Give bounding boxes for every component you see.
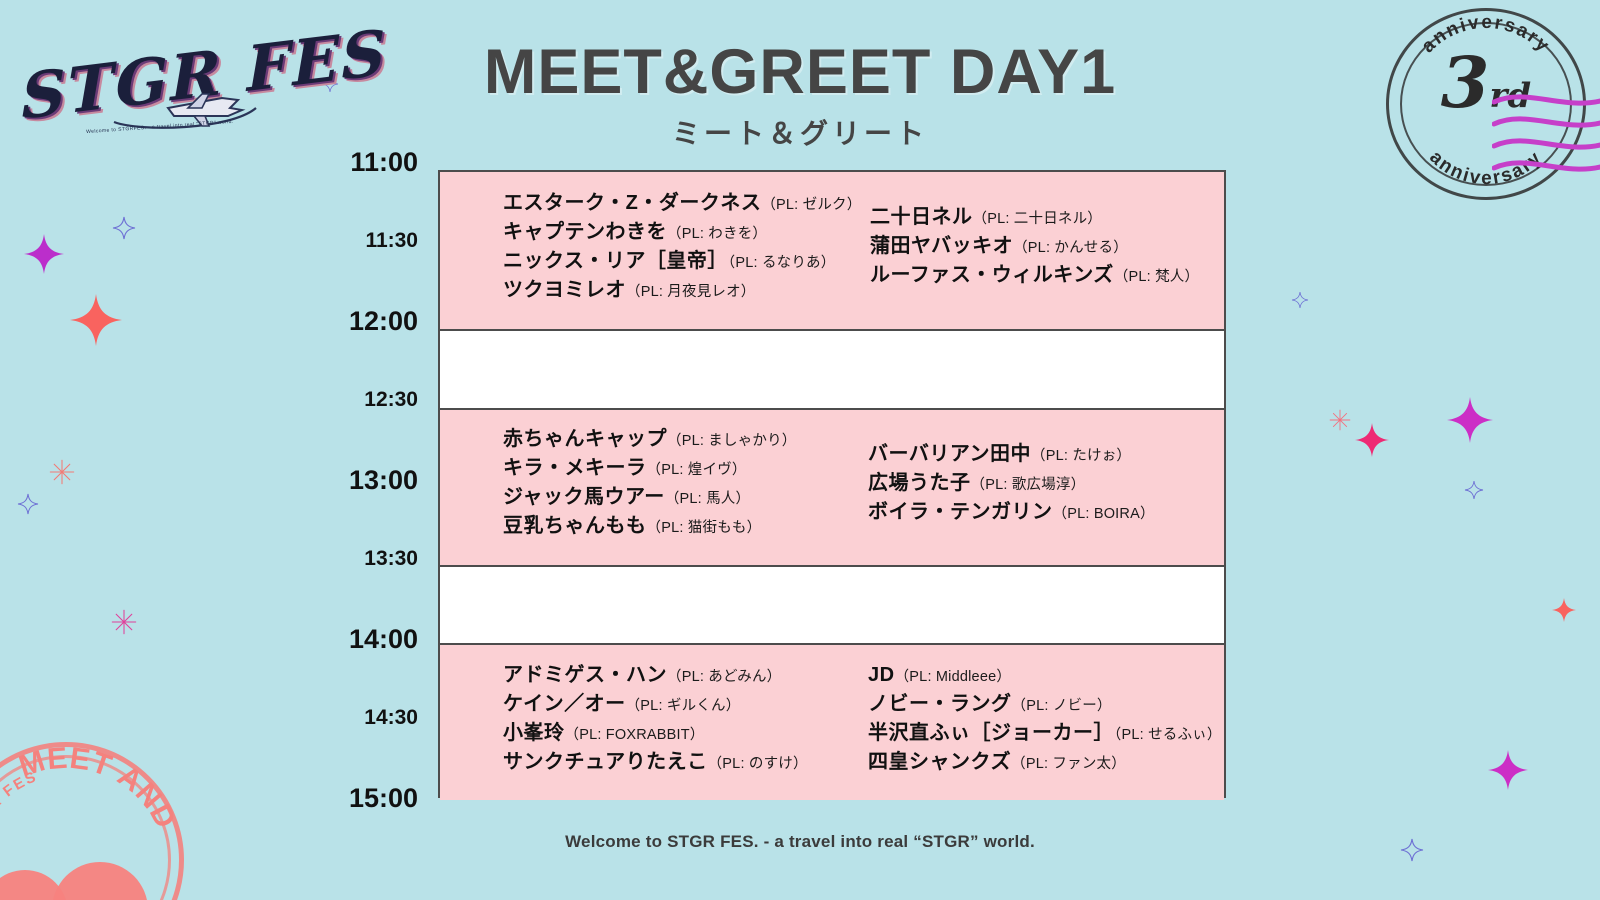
- entry-character-name: 広場うた子: [868, 472, 971, 494]
- schedule-block-session: エスターク・Z・ダークネス（PL: ゼルク）キャプテンわきを（PL: わきを）ニ…: [440, 172, 1224, 329]
- schedule-table: エスターク・Z・ダークネス（PL: ゼルク）キャプテンわきを（PL: わきを）ニ…: [438, 170, 1226, 798]
- entry-player-name: （PL: Middleee）: [895, 669, 1011, 685]
- schedule-column-left: 赤ちゃんキャップ（PL: ましゃかり）キラ・メキーラ（PL: 煌イヴ）ジャック馬…: [440, 429, 850, 545]
- entry-character-name: ケイン／オー: [503, 693, 626, 715]
- sparkle-icon: [113, 217, 135, 239]
- time-mark-1400: 14:00: [260, 624, 418, 655]
- time-mark-1100: 11:00: [260, 147, 418, 178]
- entry-player-name: （PL: 月夜見レオ）: [626, 284, 756, 300]
- schedule-entry: ニックス・リア［皇帝］（PL: るなりあ）: [503, 251, 852, 271]
- entry-character-name: ボイラ・テンガリン: [868, 501, 1053, 523]
- entry-character-name: JD: [868, 664, 895, 686]
- schedule-entry: ジャック馬ウアー（PL: 馬人）: [503, 487, 850, 507]
- schedule-entry: 豆乳ちゃんもも（PL: 猫街もも）: [503, 516, 850, 536]
- entry-player-name: （PL: たけぉ）: [1031, 448, 1131, 464]
- entry-player-name: （PL: 煌イヴ）: [647, 462, 747, 478]
- entry-player-name: （PL: BOIRA）: [1053, 506, 1155, 522]
- schedule-entry: ボイラ・テンガリン（PL: BOIRA）: [868, 502, 1224, 522]
- sparkle-icon: [18, 494, 38, 514]
- schedule-entry: サンクチュアりたえこ（PL: のすけ）: [503, 752, 850, 772]
- entry-player-name: （PL: ギルくん）: [626, 698, 741, 714]
- entry-character-name: 豆乳ちゃんもも: [503, 515, 647, 537]
- entry-character-name: ジャック馬ウアー: [503, 486, 665, 508]
- entry-character-name: ニックス・リア［皇帝］: [503, 250, 728, 272]
- time-mark-1430: 14:30: [260, 706, 418, 730]
- poster-header: MEET&GREET DAY1 ミート＆グリート: [0, 36, 1600, 152]
- entry-character-name: ノビー・ラング: [868, 693, 1012, 715]
- schedule-entry: ケイン／オー（PL: ギルくん）: [503, 694, 850, 714]
- schedule-block-session: アドミゲス・ハン（PL: あどみん）ケイン／オー（PL: ギルくん）小峯玲（PL…: [440, 643, 1224, 800]
- schedule-entry: アドミゲス・ハン（PL: あどみん）: [503, 665, 850, 685]
- sparkle-icon: [1329, 409, 1351, 431]
- schedule-entry: キャプテンわきを（PL: わきを）: [503, 222, 852, 242]
- time-mark-1200: 12:00: [260, 306, 418, 337]
- entry-character-name: サンクチュアりたえこ: [503, 751, 708, 773]
- entry-player-name: （PL: 馬人）: [665, 491, 750, 507]
- schedule-poster: STGR FES Welcome to STGRFES. - a travel …: [0, 0, 1600, 900]
- sparkle-icon: [1488, 750, 1528, 790]
- entry-player-name: （PL: 歌広場淳）: [971, 477, 1086, 493]
- entry-player-name: （PL: ファン太）: [1011, 756, 1126, 772]
- entry-player-name: （PL: あどみん）: [667, 669, 781, 685]
- entry-player-name: （PL: 梵人）: [1114, 269, 1199, 285]
- sparkle-icon: [1355, 423, 1389, 457]
- entry-player-name: （PL: ゼルク）: [761, 197, 861, 213]
- entry-character-name: 赤ちゃんキャップ: [503, 428, 667, 450]
- sparkle-icon: [1465, 481, 1483, 499]
- entry-player-name: （PL: わきを）: [667, 226, 767, 242]
- schedule-entry: 赤ちゃんキャップ（PL: ましゃかり）: [503, 429, 850, 449]
- entry-character-name: キラ・メキーラ: [503, 457, 647, 479]
- entry-player-name: （PL: ましゃかり）: [667, 433, 797, 449]
- entry-player-name: （PL: ノビー）: [1012, 698, 1112, 714]
- entry-character-name: ルーファス・ウィルキンズ: [870, 264, 1114, 286]
- schedule-column-left: アドミゲス・ハン（PL: あどみん）ケイン／オー（PL: ギルくん）小峯玲（PL…: [440, 665, 850, 781]
- entry-character-name: 小峯玲: [503, 722, 565, 744]
- time-mark-1130: 11:30: [260, 229, 418, 253]
- svg-text:MEET AND: MEET AND: [15, 742, 183, 834]
- sparkle-icon: [49, 459, 75, 485]
- entry-player-name: （PL: 猫街もも）: [647, 520, 762, 536]
- sparkle-icon: [1552, 598, 1576, 622]
- sparkle-icon: [111, 609, 137, 635]
- schedule-block-break: [440, 565, 1224, 644]
- page-subtitle: ミート＆グリート: [0, 112, 1600, 152]
- schedule-entry: ノビー・ラング（PL: ノビー）: [868, 694, 1224, 714]
- schedule-entry: 広場うた子（PL: 歌広場淳）: [868, 473, 1224, 493]
- schedule-column-right: バーバリアン田中（PL: たけぉ）広場うた子（PL: 歌広場淳）ボイラ・テンガリ…: [850, 444, 1224, 531]
- sparkle-icon: [70, 294, 122, 346]
- schedule-entry: ルーファス・ウィルキンズ（PL: 梵人）: [870, 265, 1224, 285]
- sparkle-icon: [24, 234, 64, 274]
- entry-character-name: バーバリアン田中: [868, 443, 1031, 465]
- time-mark-1330: 13:30: [260, 547, 418, 571]
- entry-player-name: （PL: のすけ）: [708, 756, 808, 772]
- entry-character-name: 四皇シャンクズ: [868, 751, 1011, 773]
- entry-player-name: （PL: FOXRABBIT）: [565, 727, 705, 743]
- entry-character-name: エスターク・Z・ダークネス: [503, 192, 761, 214]
- entry-character-name: 蒲田ヤバッキオ: [870, 235, 1013, 257]
- entry-character-name: アドミゲス・ハン: [503, 664, 667, 686]
- schedule-entry: 半沢直ふぃ［ジョーカー］（PL: せるふぃ）: [868, 723, 1224, 743]
- time-mark-1300: 13:00: [260, 465, 418, 496]
- schedule-entry: バーバリアン田中（PL: たけぉ）: [868, 444, 1224, 464]
- schedule-entry: JD（PL: Middleee）: [868, 665, 1224, 685]
- page-title: MEET&GREET DAY1: [0, 36, 1600, 108]
- schedule-entry: 蒲田ヤバッキオ（PL: かんせる）: [870, 236, 1224, 256]
- footer-tagline: Welcome to STGR FES. - a travel into rea…: [0, 832, 1600, 852]
- meet-and-greet-stamp: STGR FES MEET AND: [0, 742, 184, 900]
- coral-stamp-arc-text: STGR FES MEET AND: [0, 742, 184, 900]
- sparkle-icon: [1292, 292, 1308, 308]
- schedule-column-left: エスターク・Z・ダークネス（PL: ゼルク）キャプテンわきを（PL: わきを）ニ…: [440, 193, 852, 309]
- entry-player-name: （PL: かんせる）: [1013, 240, 1128, 256]
- entry-player-name: （PL: 二十日ネル）: [973, 211, 1103, 227]
- entry-character-name: 二十日ネル: [870, 206, 973, 228]
- schedule-entry: エスターク・Z・ダークネス（PL: ゼルク）: [503, 193, 852, 213]
- schedule-column-right: JD（PL: Middleee）ノビー・ラング（PL: ノビー）半沢直ふぃ［ジョ…: [850, 665, 1224, 781]
- sparkle-icon: [1447, 397, 1493, 443]
- schedule-entry: 小峯玲（PL: FOXRABBIT）: [503, 723, 850, 743]
- schedule-block-break: [440, 329, 1224, 408]
- entry-player-name: （PL: るなりあ）: [728, 255, 836, 271]
- entry-player-name: （PL: せるふぃ）: [1114, 727, 1222, 743]
- schedule-block-session: 赤ちゃんキャップ（PL: ましゃかり）キラ・メキーラ（PL: 煌イヴ）ジャック馬…: [440, 408, 1224, 565]
- time-mark-1230: 12:30: [260, 388, 418, 412]
- time-mark-1500: 15:00: [260, 783, 418, 814]
- schedule-entry: キラ・メキーラ（PL: 煌イヴ）: [503, 458, 850, 478]
- entry-character-name: キャプテンわきを: [503, 221, 667, 243]
- schedule-entry: 二十日ネル（PL: 二十日ネル）: [870, 207, 1224, 227]
- schedule-entry: ツクヨミレオ（PL: 月夜見レオ）: [503, 280, 852, 300]
- schedule-entry: 四皇シャンクズ（PL: ファン太）: [868, 752, 1224, 772]
- entry-character-name: ツクヨミレオ: [503, 279, 626, 301]
- schedule-column-right: 二十日ネル（PL: 二十日ネル）蒲田ヤバッキオ（PL: かんせる）ルーファス・ウ…: [852, 207, 1224, 294]
- entry-character-name: 半沢直ふぃ［ジョーカー］: [868, 722, 1114, 744]
